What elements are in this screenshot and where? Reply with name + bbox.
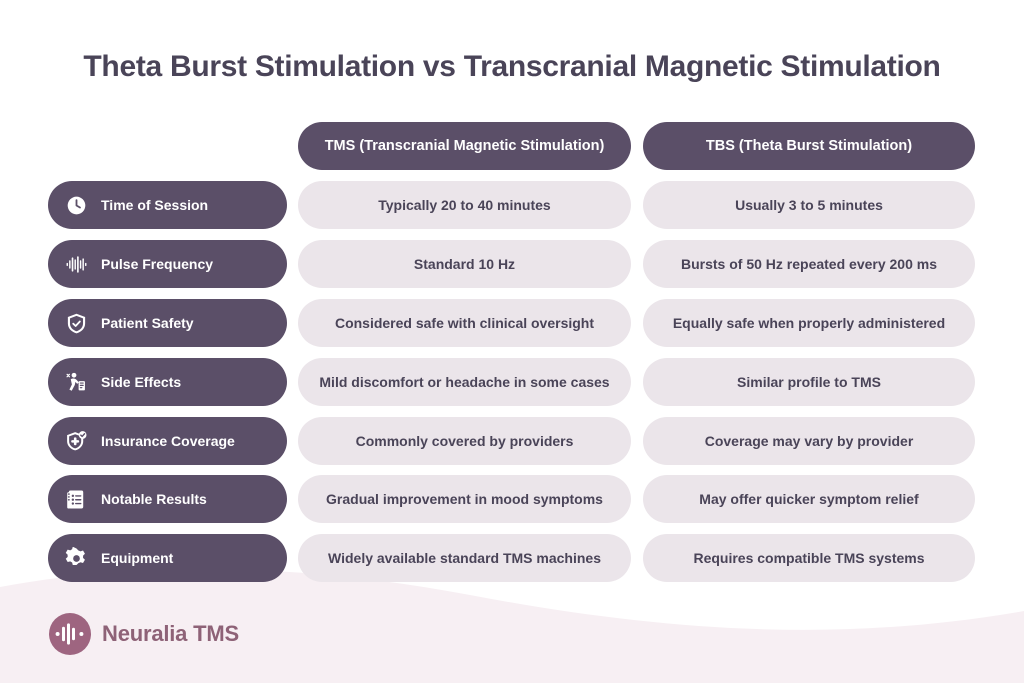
- table-row: Notable Results Gradual improvement in m…: [0, 475, 1024, 523]
- cell-tms: Widely available standard TMS machines: [298, 534, 631, 582]
- row-label-text: Equipment: [101, 550, 173, 566]
- cell-tbs: Requires compatible TMS systems: [643, 534, 975, 582]
- column-header-tbs: TBS (Theta Burst Stimulation): [643, 122, 975, 170]
- row-label-text: Insurance Coverage: [101, 433, 235, 449]
- cell-tbs: Coverage may vary by provider: [643, 417, 975, 465]
- table-row: Side Effects Mild discomfort or headache…: [0, 358, 1024, 406]
- cell-tms: Standard 10 Hz: [298, 240, 631, 288]
- infographic-canvas: Theta Burst Stimulation vs Transcranial …: [0, 0, 1024, 683]
- table-row: Patient Safety Considered safe with clin…: [0, 299, 1024, 347]
- page-title: Theta Burst Stimulation vs Transcranial …: [0, 50, 1024, 84]
- column-header-tms: TMS (Transcranial Magnetic Stimulation): [298, 122, 631, 170]
- clock-icon: [65, 194, 88, 217]
- table-row: Pulse Frequency Standard 10 Hz Bursts of…: [0, 240, 1024, 288]
- waveform-circle-icon: [48, 612, 92, 656]
- medical-shield-icon: [65, 430, 88, 453]
- clipboard-list-icon: [65, 488, 88, 511]
- row-label-side-effects: Side Effects: [48, 358, 287, 406]
- cell-tbs: May offer quicker symptom relief: [643, 475, 975, 523]
- row-label-pulse-frequency: Pulse Frequency: [48, 240, 287, 288]
- cell-tms: Considered safe with clinical oversight: [298, 299, 631, 347]
- gear-icon: [65, 547, 88, 570]
- cell-tbs: Bursts of 50 Hz repeated every 200 ms: [643, 240, 975, 288]
- person-unwell-icon: [65, 371, 88, 394]
- table-row: Insurance Coverage Commonly covered by p…: [0, 417, 1024, 465]
- row-label-patient-safety: Patient Safety: [48, 299, 287, 347]
- row-label-text: Pulse Frequency: [101, 256, 213, 272]
- cell-tbs: Usually 3 to 5 minutes: [643, 181, 975, 229]
- cell-tbs: Equally safe when properly administered: [643, 299, 975, 347]
- shield-check-icon: [65, 312, 88, 335]
- row-label-equipment: Equipment: [48, 534, 287, 582]
- table-row: Time of Session Typically 20 to 40 minut…: [0, 181, 1024, 229]
- table-row: Equipment Widely available standard TMS …: [0, 534, 1024, 582]
- row-label-notable-results: Notable Results: [48, 475, 287, 523]
- cell-tms: Commonly covered by providers: [298, 417, 631, 465]
- brand-logo: Neuralia TMS: [48, 612, 239, 656]
- cell-tms: Gradual improvement in mood symptoms: [298, 475, 631, 523]
- row-label-text: Side Effects: [101, 374, 181, 390]
- row-label-time-of-session: Time of Session: [48, 181, 287, 229]
- row-label-text: Patient Safety: [101, 315, 194, 331]
- cell-tms: Typically 20 to 40 minutes: [298, 181, 631, 229]
- brand-name: Neuralia TMS: [102, 621, 239, 647]
- row-label-text: Time of Session: [101, 197, 208, 213]
- row-label-text: Notable Results: [101, 491, 207, 507]
- cell-tbs: Similar profile to TMS: [643, 358, 975, 406]
- row-label-insurance-coverage: Insurance Coverage: [48, 417, 287, 465]
- cell-tms: Mild discomfort or headache in some case…: [298, 358, 631, 406]
- waveform-icon: [65, 253, 88, 276]
